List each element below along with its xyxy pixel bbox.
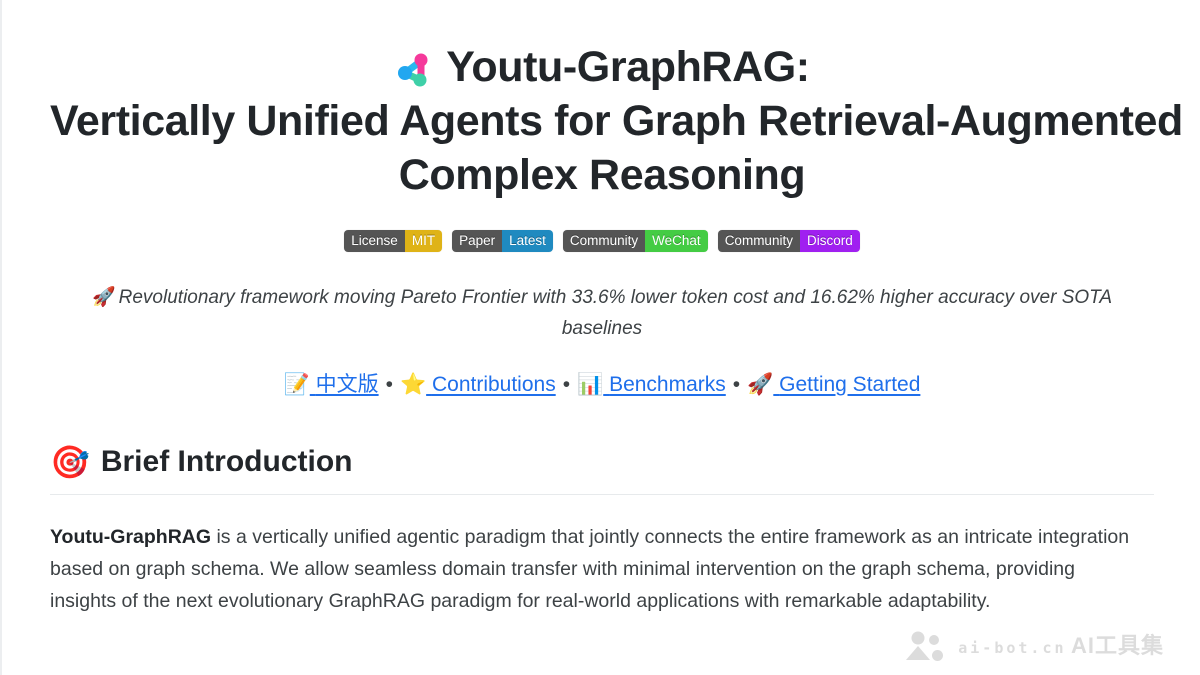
intro-body-text: is a vertically unified agentic paradigm… [50, 526, 1129, 612]
star-icon: ⭐ [400, 370, 426, 400]
brief-introduction-section: 🎯 Brief Introduction Youtu-GraphRAG is a… [50, 442, 1154, 617]
link-label: Contributions [432, 373, 556, 396]
badge-value: Discord [800, 230, 860, 252]
watermark-logo-icon [903, 629, 949, 663]
section-heading: 🎯 Brief Introduction [50, 442, 1154, 482]
badge-community-discord[interactable]: Community Discord [718, 230, 860, 252]
tagline-text: Revolutionary framework moving Pareto Fr… [119, 287, 1112, 339]
badge-label: Community [563, 230, 645, 252]
quick-links: 📝 中文版•⭐ Contributions•📊 Benchmarks•🚀 Get… [50, 370, 1154, 400]
title-line-3: Complex Reasoning [50, 148, 1154, 202]
link-getting-started[interactable]: 🚀 Getting Started [747, 373, 920, 396]
dart-target-icon: 🎯 [50, 446, 90, 478]
badge-label: Paper [452, 230, 502, 252]
title-line-1: Youtu-GraphRAG: [50, 40, 1154, 94]
link-label: Getting Started [779, 373, 920, 396]
section-heading-label: Brief Introduction [101, 442, 353, 482]
title-text-1: Youtu-GraphRAG: [446, 40, 809, 94]
watermark-brand: AI工具集 [1071, 633, 1164, 658]
badge-license-mit[interactable]: License MIT [344, 230, 442, 252]
intro-paragraph: Youtu-GraphRAG is a vertically unified a… [50, 521, 1146, 617]
graph-nodes-logo-icon [394, 49, 434, 89]
link-label: Benchmarks [609, 373, 726, 396]
rocket-icon: 🚀 [747, 370, 773, 400]
rocket-icon: 🚀 [92, 287, 116, 308]
link-separator: • [563, 373, 570, 396]
tagline: 🚀Revolutionary framework moving Pareto F… [57, 282, 1147, 344]
badge-community-wechat[interactable]: Community WeChat [563, 230, 708, 252]
readme-page: Youtu-GraphRAG: Vertically Unified Agent… [2, 0, 1200, 675]
link-benchmarks[interactable]: 📊 Benchmarks [577, 373, 726, 396]
link-separator: • [386, 373, 393, 396]
title-line-2: Vertically Unified Agents for Graph Retr… [50, 94, 1154, 148]
badge-value: Latest [502, 230, 553, 252]
link-contributions[interactable]: ⭐ Contributions [400, 373, 556, 396]
badge-value: WeChat [645, 230, 708, 252]
bar-chart-icon: 📊 [577, 370, 603, 400]
badge-row: License MIT Paper Latest Community WeCha… [50, 230, 1154, 252]
badge-value: MIT [405, 230, 442, 252]
watermark-text: ai-bot.cn AI工具集 [958, 634, 1164, 658]
badge-label: License [344, 230, 405, 252]
link-label: 中文版 [316, 373, 379, 396]
badge-paper-latest[interactable]: Paper Latest [452, 230, 553, 252]
section-divider [50, 494, 1154, 495]
link-separator: • [733, 373, 740, 396]
intro-lead-bold: Youtu-GraphRAG [50, 526, 211, 548]
page-title: Youtu-GraphRAG: Vertically Unified Agent… [50, 0, 1154, 202]
watermark: ai-bot.cn AI工具集 [903, 629, 1164, 663]
badge-label: Community [718, 230, 800, 252]
memo-icon: 📝 [284, 370, 310, 400]
watermark-domain: ai-bot.cn [958, 639, 1066, 657]
link-chinese-readme[interactable]: 📝 中文版 [284, 373, 379, 396]
